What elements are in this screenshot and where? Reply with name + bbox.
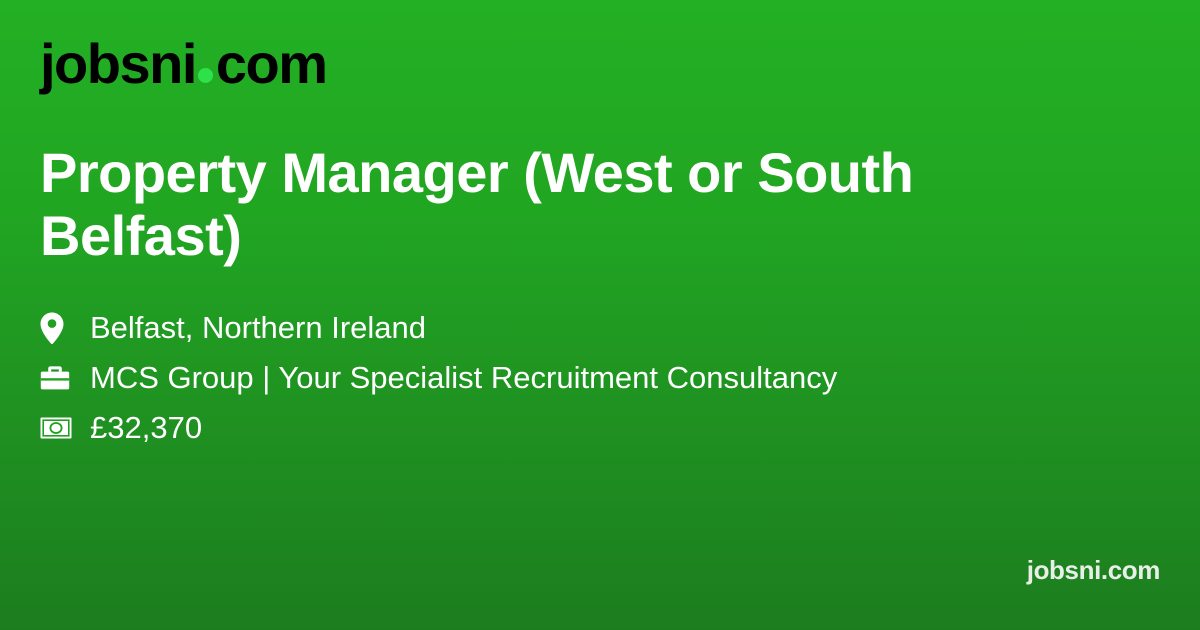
job-share-card: jobsni com Property Manager (West or Sou… bbox=[0, 0, 1200, 630]
logo-text-secondary: com bbox=[216, 36, 327, 92]
job-company-text: MCS Group | Your Specialist Recruitment … bbox=[90, 360, 837, 396]
logo-dot-icon bbox=[198, 68, 213, 83]
page-title: Property Manager (West or South Belfast) bbox=[40, 142, 1040, 267]
footer-watermark: jobsni.com bbox=[1027, 555, 1160, 586]
job-salary-text: £32,370 bbox=[90, 410, 202, 446]
job-meta-list: Belfast, Northern Ireland MCS Group | Yo… bbox=[40, 303, 837, 453]
site-logo[interactable]: jobsni com bbox=[40, 36, 327, 92]
map-pin-icon bbox=[40, 312, 76, 344]
briefcase-icon bbox=[40, 362, 76, 394]
job-meta-company: MCS Group | Your Specialist Recruitment … bbox=[40, 353, 837, 403]
logo-text-primary: jobsni bbox=[40, 36, 196, 92]
banknote-icon bbox=[40, 412, 76, 444]
job-meta-location: Belfast, Northern Ireland bbox=[40, 303, 837, 353]
job-location-text: Belfast, Northern Ireland bbox=[90, 310, 426, 346]
job-meta-salary: £32,370 bbox=[40, 403, 837, 453]
